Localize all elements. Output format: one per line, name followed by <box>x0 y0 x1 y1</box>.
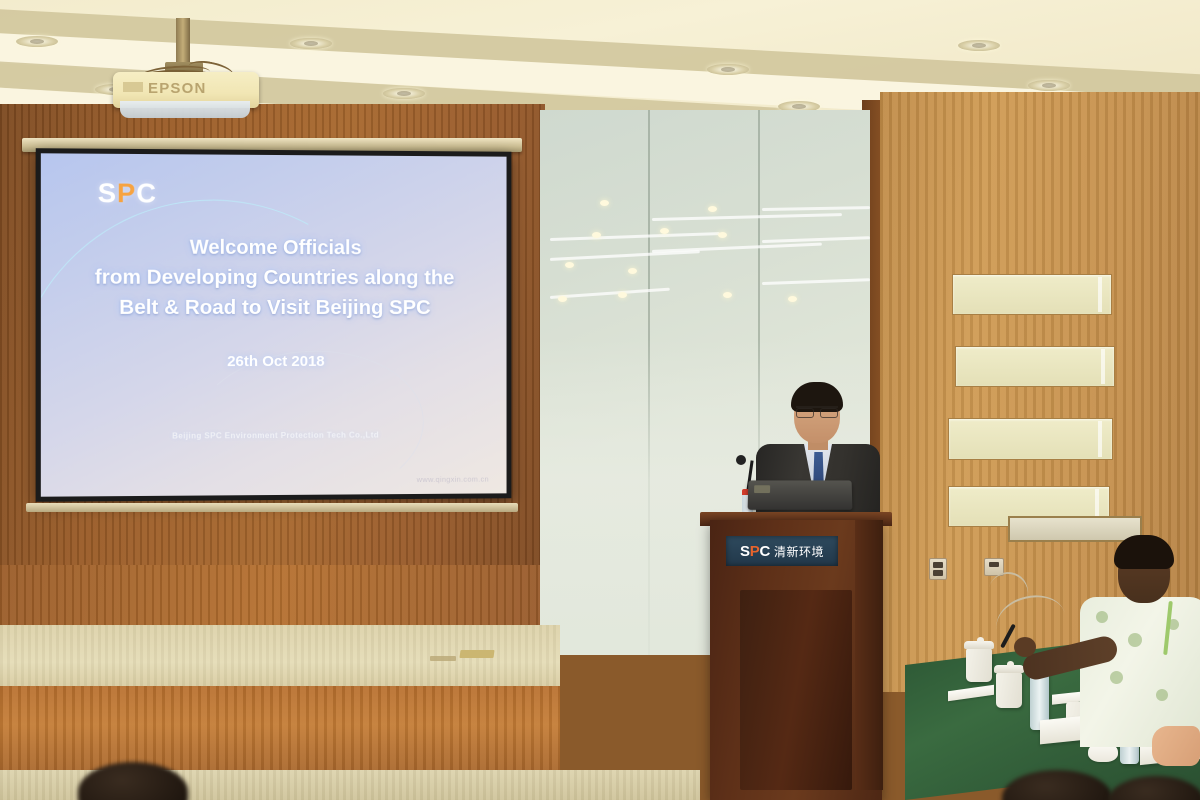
sign-letter-p: P <box>750 543 760 560</box>
sign-letter-c: C <box>759 543 770 560</box>
wall-glass-panel <box>948 418 1113 460</box>
slide-title-line-2: from Developing Countries along the <box>49 262 499 293</box>
slide-surface: SPC Welcome Officials from Developing Co… <box>41 153 507 496</box>
delegate-shirt <box>1080 597 1200 747</box>
microphone-icon <box>736 455 746 465</box>
conference-room-photo: EPSON SPC Welcome Officials from Develop… <box>0 0 1200 800</box>
slide-spc-logo: SPC <box>98 178 157 210</box>
slide-website-url: www.qingxin.com.cn <box>417 475 489 484</box>
stage-front-face <box>0 686 560 772</box>
slide-date: 26th Oct 2018 <box>41 353 507 371</box>
stage-floor-plate <box>459 650 494 658</box>
podium-side-panel <box>855 520 883 790</box>
projection-screen: SPC Welcome Officials from Developing Co… <box>36 148 512 502</box>
podium-spc-sign: SPC 清新环境 <box>726 536 838 566</box>
delegate-hand <box>1014 637 1036 657</box>
seated-delegate <box>1080 535 1200 750</box>
slide-title-line-1: Welcome Officials <box>49 232 499 263</box>
slide-title-block: Welcome Officials from Developing Countr… <box>41 232 507 323</box>
delegate-hair <box>1114 535 1174 569</box>
logo-letter-s: S <box>98 178 117 208</box>
sign-chinese-text: 清新环境 <box>774 543 824 560</box>
projector-brand-label: EPSON <box>148 80 207 97</box>
projector-lens <box>120 101 250 118</box>
wall-socket <box>929 558 947 580</box>
laptop <box>748 480 853 509</box>
sign-letter-s: S <box>740 543 750 560</box>
slide-title-line-3: Belt & Road to Visit Beijing SPC <box>49 293 499 323</box>
wall-glass-panel <box>952 274 1112 315</box>
tea-cup <box>996 672 1022 708</box>
tea-cup <box>966 648 992 682</box>
logo-letter-p: P <box>117 178 136 208</box>
stage-floor-plate <box>430 656 456 661</box>
wall-glass-panel <box>955 346 1115 387</box>
logo-letter-c: C <box>136 178 157 208</box>
second-delegate-hand <box>1152 726 1200 766</box>
glasses-icon <box>796 406 838 417</box>
podium-front-panel <box>740 590 852 790</box>
screen-bottom-bar <box>26 503 518 512</box>
